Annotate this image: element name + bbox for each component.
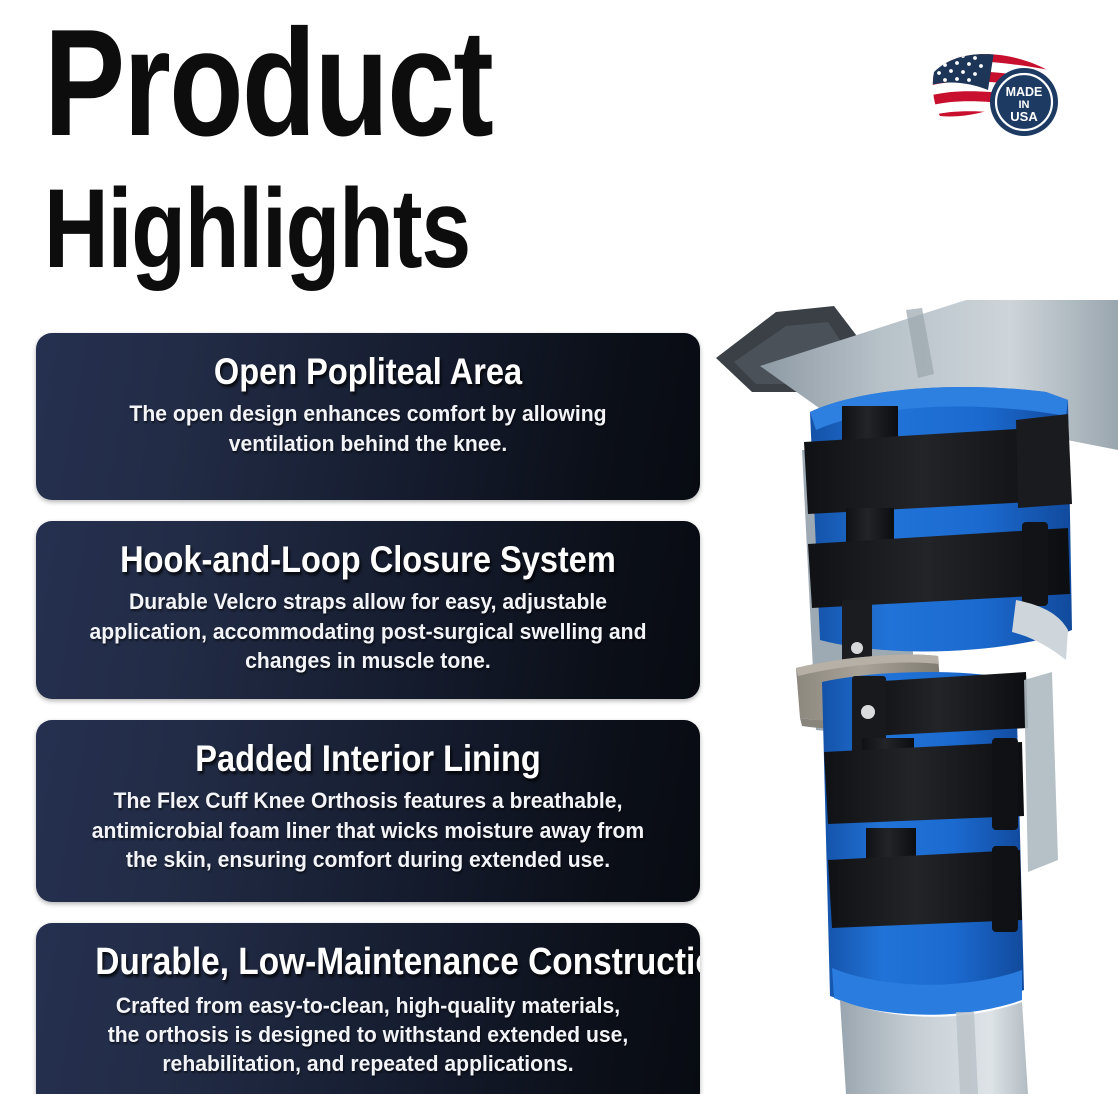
hinge-rivet-lower (861, 705, 875, 719)
strap-upper-buckle (1016, 414, 1072, 508)
feature-card-title: Open Popliteal Area (95, 353, 641, 391)
made-in-usa-svg: MADE IN USA (928, 46, 1060, 142)
page-title: Product Highlights (44, 14, 744, 282)
feature-card-open-popliteal-area[interactable]: Open Popliteal Area The open design enha… (36, 333, 700, 500)
feature-card-hook-and-loop-closure-system[interactable]: Hook-and-Loop Closure System Durable Vel… (36, 521, 700, 699)
made-in-usa-badge: MADE IN USA (928, 46, 1060, 142)
feature-card-body: The open design enhances comfort by allo… (77, 399, 660, 458)
feature-card-body-line: Crafted from easy-to-clean, high-quality… (77, 991, 660, 1020)
strap-lower-1-buckle (992, 738, 1018, 830)
feature-card-body: Durable Velcro straps allow for easy, ad… (77, 587, 660, 675)
feature-card-body-line: changes in muscle tone. (77, 646, 660, 675)
feature-card-body-line: the skin, ensuring comfort during extend… (77, 845, 660, 874)
feature-card-title: Hook-and-Loop Closure System (95, 541, 641, 579)
strap-knee (866, 672, 1028, 736)
seal-line-made: MADE (1006, 85, 1043, 99)
title-line-product: Product (44, 14, 604, 154)
product-photo (716, 300, 1118, 1094)
feature-card-body: Crafted from easy-to-clean, high-quality… (77, 991, 660, 1079)
feature-card-title: Durable, Low-Maintenance Construction (95, 943, 641, 983)
seal-line-usa: USA (1010, 109, 1038, 124)
feature-card-body: The Flex Cuff Knee Orthosis features a b… (77, 786, 660, 874)
feature-card-body-line: application, accommodating post-surgical… (77, 617, 660, 646)
hinge-rivet (851, 642, 863, 654)
feature-card-body-line: antimicrobial foam liner that wicks mois… (77, 816, 660, 845)
feature-card-durable-low-maintenance-construction[interactable]: Durable, Low-Maintenance Construction Cr… (36, 923, 700, 1094)
side-denim (1024, 672, 1058, 872)
infographic-page: Product Highlights (0, 0, 1118, 1094)
title-line-highlights: Highlights (44, 176, 604, 282)
strap-mid-buckle (1022, 522, 1048, 606)
feature-card-body-line: ventilation behind the knee. (77, 429, 660, 458)
feature-card-body-line: Durable Velcro straps allow for easy, ad… (77, 587, 660, 616)
feature-card-padded-interior-lining[interactable]: Padded Interior Lining The Flex Cuff Kne… (36, 720, 700, 902)
feature-card-body-line: rehabilitation, and repeated application… (77, 1049, 660, 1078)
strap-lower-2-buckle (992, 846, 1018, 932)
feature-card-list: Open Popliteal Area The open design enha… (36, 333, 700, 1094)
feature-card-body-line: The open design enhances comfort by allo… (77, 399, 660, 428)
feature-card-body-line: The Flex Cuff Knee Orthosis features a b… (77, 786, 660, 815)
feature-card-title: Padded Interior Lining (95, 740, 641, 778)
knee-orthosis-illustration (716, 300, 1118, 1094)
feature-card-body-line: the orthosis is designed to withstand ex… (77, 1020, 660, 1049)
